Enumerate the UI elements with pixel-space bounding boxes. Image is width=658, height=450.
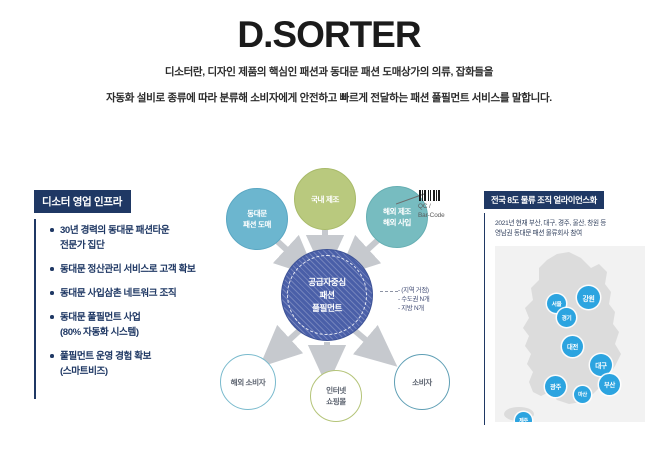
region-item-1: - 수도권 N개 [398, 295, 466, 304]
list-item-line1: 동대문 정산관리 서비스로 고객 확보 [60, 264, 195, 275]
map-pin[interactable]: 부산 [599, 374, 620, 395]
infra-list: 30년 경력의 동대문 패션타운 전문가 집단 동대문 정산관리 서비스로 고객… [34, 219, 214, 399]
qc-barcode-callout: QC / Bar-Code [418, 190, 482, 220]
map-pin[interactable]: 대전 [562, 336, 583, 357]
list-item-line1: 동대문 사입삼촌 네트워크 조직 [60, 288, 176, 299]
alliance-panel-heading: 전국 8도 물류 조직 얼라이언스화 [484, 191, 604, 209]
region-leader-line [380, 291, 398, 292]
list-item-line2: (80% 자동화 시스템) [60, 325, 214, 340]
map-pin-label: 서울 [552, 299, 562, 308]
subtitle-line-1: 디소터란, 디자인 제품의 핵심인 패션과 동대문 패션 도매상가의 의류, 잡… [0, 64, 658, 79]
list-item-line1: 풀필먼트 운영 경험 확보 [60, 351, 151, 362]
bullet-icon [50, 315, 54, 319]
node-online-mall[interactable]: 인터넷 쇼핑몰 [310, 370, 362, 422]
list-item-line1: 동대문 풀필먼트 사업 [60, 312, 140, 323]
list-item-line1: 30년 경력의 동대문 패션타운 [60, 225, 169, 236]
node-label: 공급자중심 패션 풀필먼트 [308, 276, 346, 315]
map-pin-label: 광주 [550, 382, 561, 391]
map-pin[interactable]: 강원 [577, 286, 600, 309]
map-pin-label: 강원 [582, 293, 594, 303]
alliance-panel-body: 2021년 현재 부산, 대구, 경주, 울산, 창원 등 영남권 동대문 패션… [484, 213, 650, 425]
list-item: 동대문 사입삼촌 네트워크 조직 [50, 286, 214, 301]
bullet-icon [50, 228, 54, 232]
node-label: 해외 제조 해외 사입 [383, 206, 411, 228]
map-pin[interactable]: 대구 [590, 354, 612, 376]
qc-label-line1: QC / [418, 203, 482, 212]
list-item-line2: (스마트비즈) [60, 364, 214, 379]
region-hub-callout: - (지역 거점) - 수도권 N개 - 지방 N개 [398, 286, 466, 313]
barcode-icon [419, 190, 482, 201]
node-label: 국내 제조 [311, 194, 339, 205]
map-pin[interactable]: 제주 [515, 412, 532, 422]
infra-panel: 디소터 영업 인프라 30년 경력의 동대문 패션타운 전문가 집단 동대문 정… [34, 190, 214, 399]
alliance-description-line2: 영남권 동대문 패션 물류회사 참여 [495, 229, 650, 239]
map-pin[interactable]: 마산 [574, 386, 591, 403]
alliance-description: 2021년 현재 부산, 대구, 경주, 울산, 창원 등 영남권 동대문 패션… [495, 219, 650, 239]
list-item: 30년 경력의 동대문 패션타운 전문가 집단 [50, 223, 214, 253]
map-pin-label: 대전 [567, 342, 578, 351]
list-item: 동대문 정산관리 서비스로 고객 확보 [50, 262, 214, 277]
region-item-0: - (지역 거점) [398, 286, 466, 295]
map-pin-label: 마산 [578, 391, 587, 398]
bullet-icon [50, 267, 54, 271]
qc-label-line2: Bar-Code [418, 212, 482, 221]
node-label: 인터넷 쇼핑몰 [326, 385, 346, 407]
bullet-icon [50, 354, 54, 358]
node-domestic-manufacturing[interactable]: 국내 제조 [294, 168, 356, 230]
korea-map-shape [495, 246, 645, 422]
alliance-description-line1: 2021년 현재 부산, 대구, 경주, 울산, 창원 등 [495, 219, 650, 229]
node-label: 해외 소비자 [231, 377, 266, 388]
list-item: 풀필먼트 운영 경험 확보 (스마트비즈) [50, 349, 214, 379]
map-pin[interactable]: 경기 [557, 308, 576, 327]
slide-root: D.SORTER 디소터란, 디자인 제품의 핵심인 패션과 동대문 패션 도매… [0, 0, 658, 450]
map-pin-label: 경기 [562, 313, 572, 322]
node-dongdaemun-wholesale[interactable]: 동대문 패션 도매 [226, 188, 288, 250]
node-overseas-consumer[interactable]: 해외 소비자 [220, 354, 276, 410]
map-pin-label: 부산 [604, 380, 615, 389]
region-item-2: - 지방 N개 [398, 304, 466, 313]
bullet-icon [50, 291, 54, 295]
map-pin-label: 대구 [595, 360, 607, 370]
list-item-line2: 전문가 집단 [60, 238, 214, 253]
node-label: 소비자 [412, 377, 432, 388]
infra-panel-heading: 디소터 영업 인프라 [34, 190, 131, 213]
node-fulfillment-hub[interactable]: 공급자중심 패션 풀필먼트 [282, 250, 372, 340]
node-consumer[interactable]: 소비자 [394, 354, 450, 410]
map-pin-label: 제주 [519, 417, 528, 422]
alliance-panel: 전국 8도 물류 조직 얼라이언스화 2021년 현재 부산, 대구, 경주, … [484, 190, 650, 426]
map-pin[interactable]: 광주 [545, 376, 566, 397]
korea-map: 서울강원경기대전대구광주마산부산제주 [495, 246, 645, 422]
subtitle-line-2: 자동화 설비로 종류에 따라 분류해 소비자에게 안전하고 빠르게 전달하는 패… [0, 90, 658, 105]
page-title: D.SORTER [0, 14, 658, 56]
list-item: 동대문 풀필먼트 사업 (80% 자동화 시스템) [50, 310, 214, 340]
node-label: 동대문 패션 도매 [243, 208, 271, 230]
